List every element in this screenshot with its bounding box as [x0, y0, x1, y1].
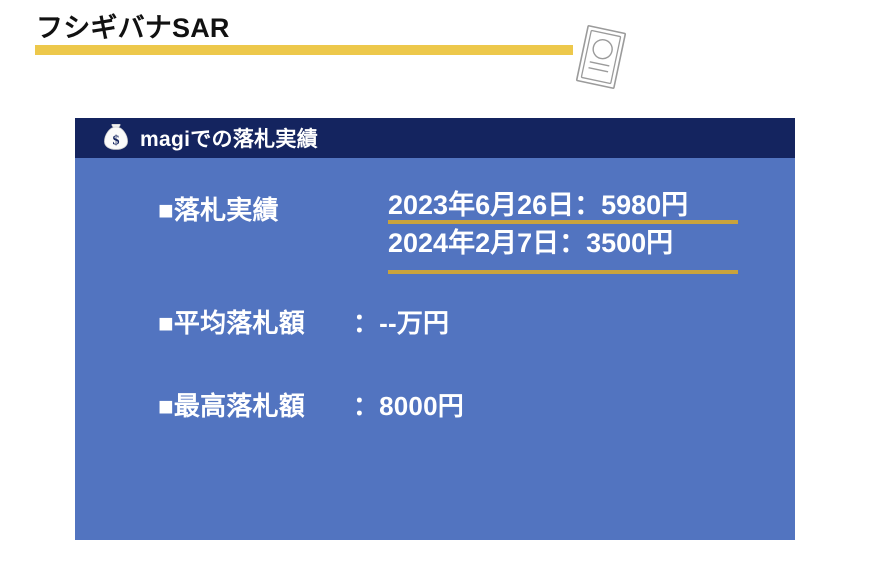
- panel-header: $ magiでの落札実績: [75, 118, 795, 158]
- result-underline-1: [388, 220, 738, 224]
- row-highest-price: ■最高落札額 ：8000円: [158, 386, 464, 423]
- row-value-average-price: ：--万円: [353, 303, 449, 340]
- auction-results-values: 2023年6月26日：5980円 2024年2月7日：3500円: [388, 186, 688, 262]
- trading-card-icon: [568, 22, 634, 92]
- row-auction-results: ■落札実績 2023年6月26日：5980円 2024年2月7日：3500円: [158, 190, 279, 227]
- svg-text:$: $: [113, 134, 120, 149]
- auction-result-line-1: 2023年6月26日：5980円: [388, 186, 688, 224]
- row-average-price: ■平均落札額 ：--万円: [158, 303, 449, 340]
- panel-header-title: magiでの落札実績: [140, 123, 318, 153]
- result-underline-2: [388, 270, 738, 274]
- moneybag-icon: $: [101, 122, 131, 152]
- row-value-highest-price: ：8000円: [353, 386, 464, 423]
- row-label-average-price: ■平均落札額: [158, 303, 305, 340]
- row-label-highest-price: ■最高落札額: [158, 386, 305, 423]
- auction-result-line-2: 2024年2月7日：3500円: [388, 224, 688, 262]
- page-title: フシギバナSAR: [36, 6, 230, 45]
- row-label-auction-results: ■落札実績: [158, 190, 279, 227]
- title-underline-bar: [35, 45, 573, 55]
